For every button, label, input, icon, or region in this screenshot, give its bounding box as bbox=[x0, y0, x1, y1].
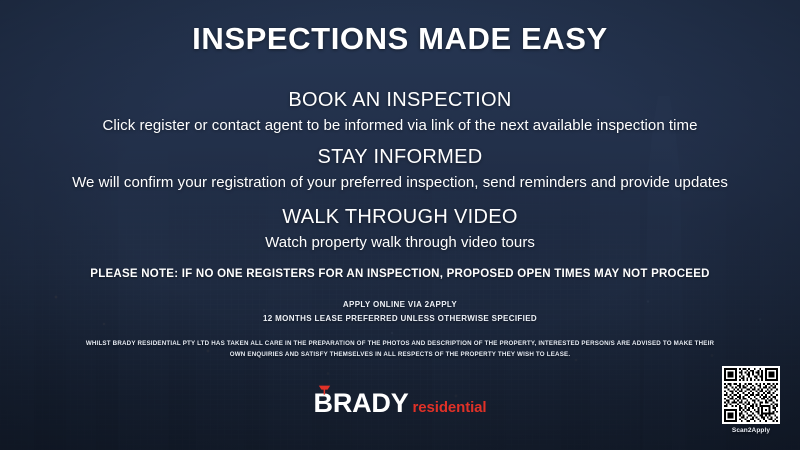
section-stay-informed: STAY INFORMED We will confirm your regis… bbox=[0, 145, 800, 193]
scan-to-apply-block[interactable]: Scan2Apply bbox=[720, 366, 782, 434]
apply-online-line: APPLY ONLINE VIA 2APPLY bbox=[0, 298, 800, 312]
logo-residential-text: residential bbox=[413, 400, 487, 415]
legal-disclaimer: WHILST BRADY RESIDENTIAL PTY LTD HAS TAK… bbox=[50, 338, 750, 361]
disclaimer-line-2: OWN ENQUIRIES AND SATISFY THEMSELVES IN … bbox=[50, 349, 750, 360]
inspection-info-slide: INSPECTIONS MADE EASY BOOK AN INSPECTION… bbox=[0, 0, 800, 450]
section-subtitle: We will confirm your registration of you… bbox=[0, 173, 800, 193]
section-title: WALK THROUGH VIDEO bbox=[0, 205, 800, 230]
page-title: INSPECTIONS MADE EASY bbox=[0, 22, 800, 56]
section-book-an-inspection: BOOK AN INSPECTION Click register or con… bbox=[0, 88, 800, 136]
section-subtitle: Click register or contact agent to be in… bbox=[0, 116, 800, 136]
lease-term-line: 12 MONTHS LEASE PREFERRED UNLESS OTHERWI… bbox=[0, 312, 800, 326]
please-note-text: PLEASE NOTE: IF NO ONE REGISTERS FOR AN … bbox=[0, 268, 800, 280]
section-title: STAY INFORMED bbox=[0, 145, 800, 170]
slide-content: INSPECTIONS MADE EASY BOOK AN INSPECTION… bbox=[0, 0, 800, 450]
brady-flag-mark-icon bbox=[318, 382, 331, 392]
brady-residential-logo: BRADY residential bbox=[0, 390, 800, 417]
qr-code-icon[interactable] bbox=[722, 366, 780, 424]
apply-info: APPLY ONLINE VIA 2APPLY 12 MONTHS LEASE … bbox=[0, 298, 800, 326]
section-subtitle: Watch property walk through video tours bbox=[0, 233, 800, 253]
section-walk-through-video: WALK THROUGH VIDEO Watch property walk t… bbox=[0, 205, 800, 253]
section-title: BOOK AN INSPECTION bbox=[0, 88, 800, 113]
qr-caption: Scan2Apply bbox=[720, 427, 782, 434]
disclaimer-line-1: WHILST BRADY RESIDENTIAL PTY LTD HAS TAK… bbox=[50, 338, 750, 349]
